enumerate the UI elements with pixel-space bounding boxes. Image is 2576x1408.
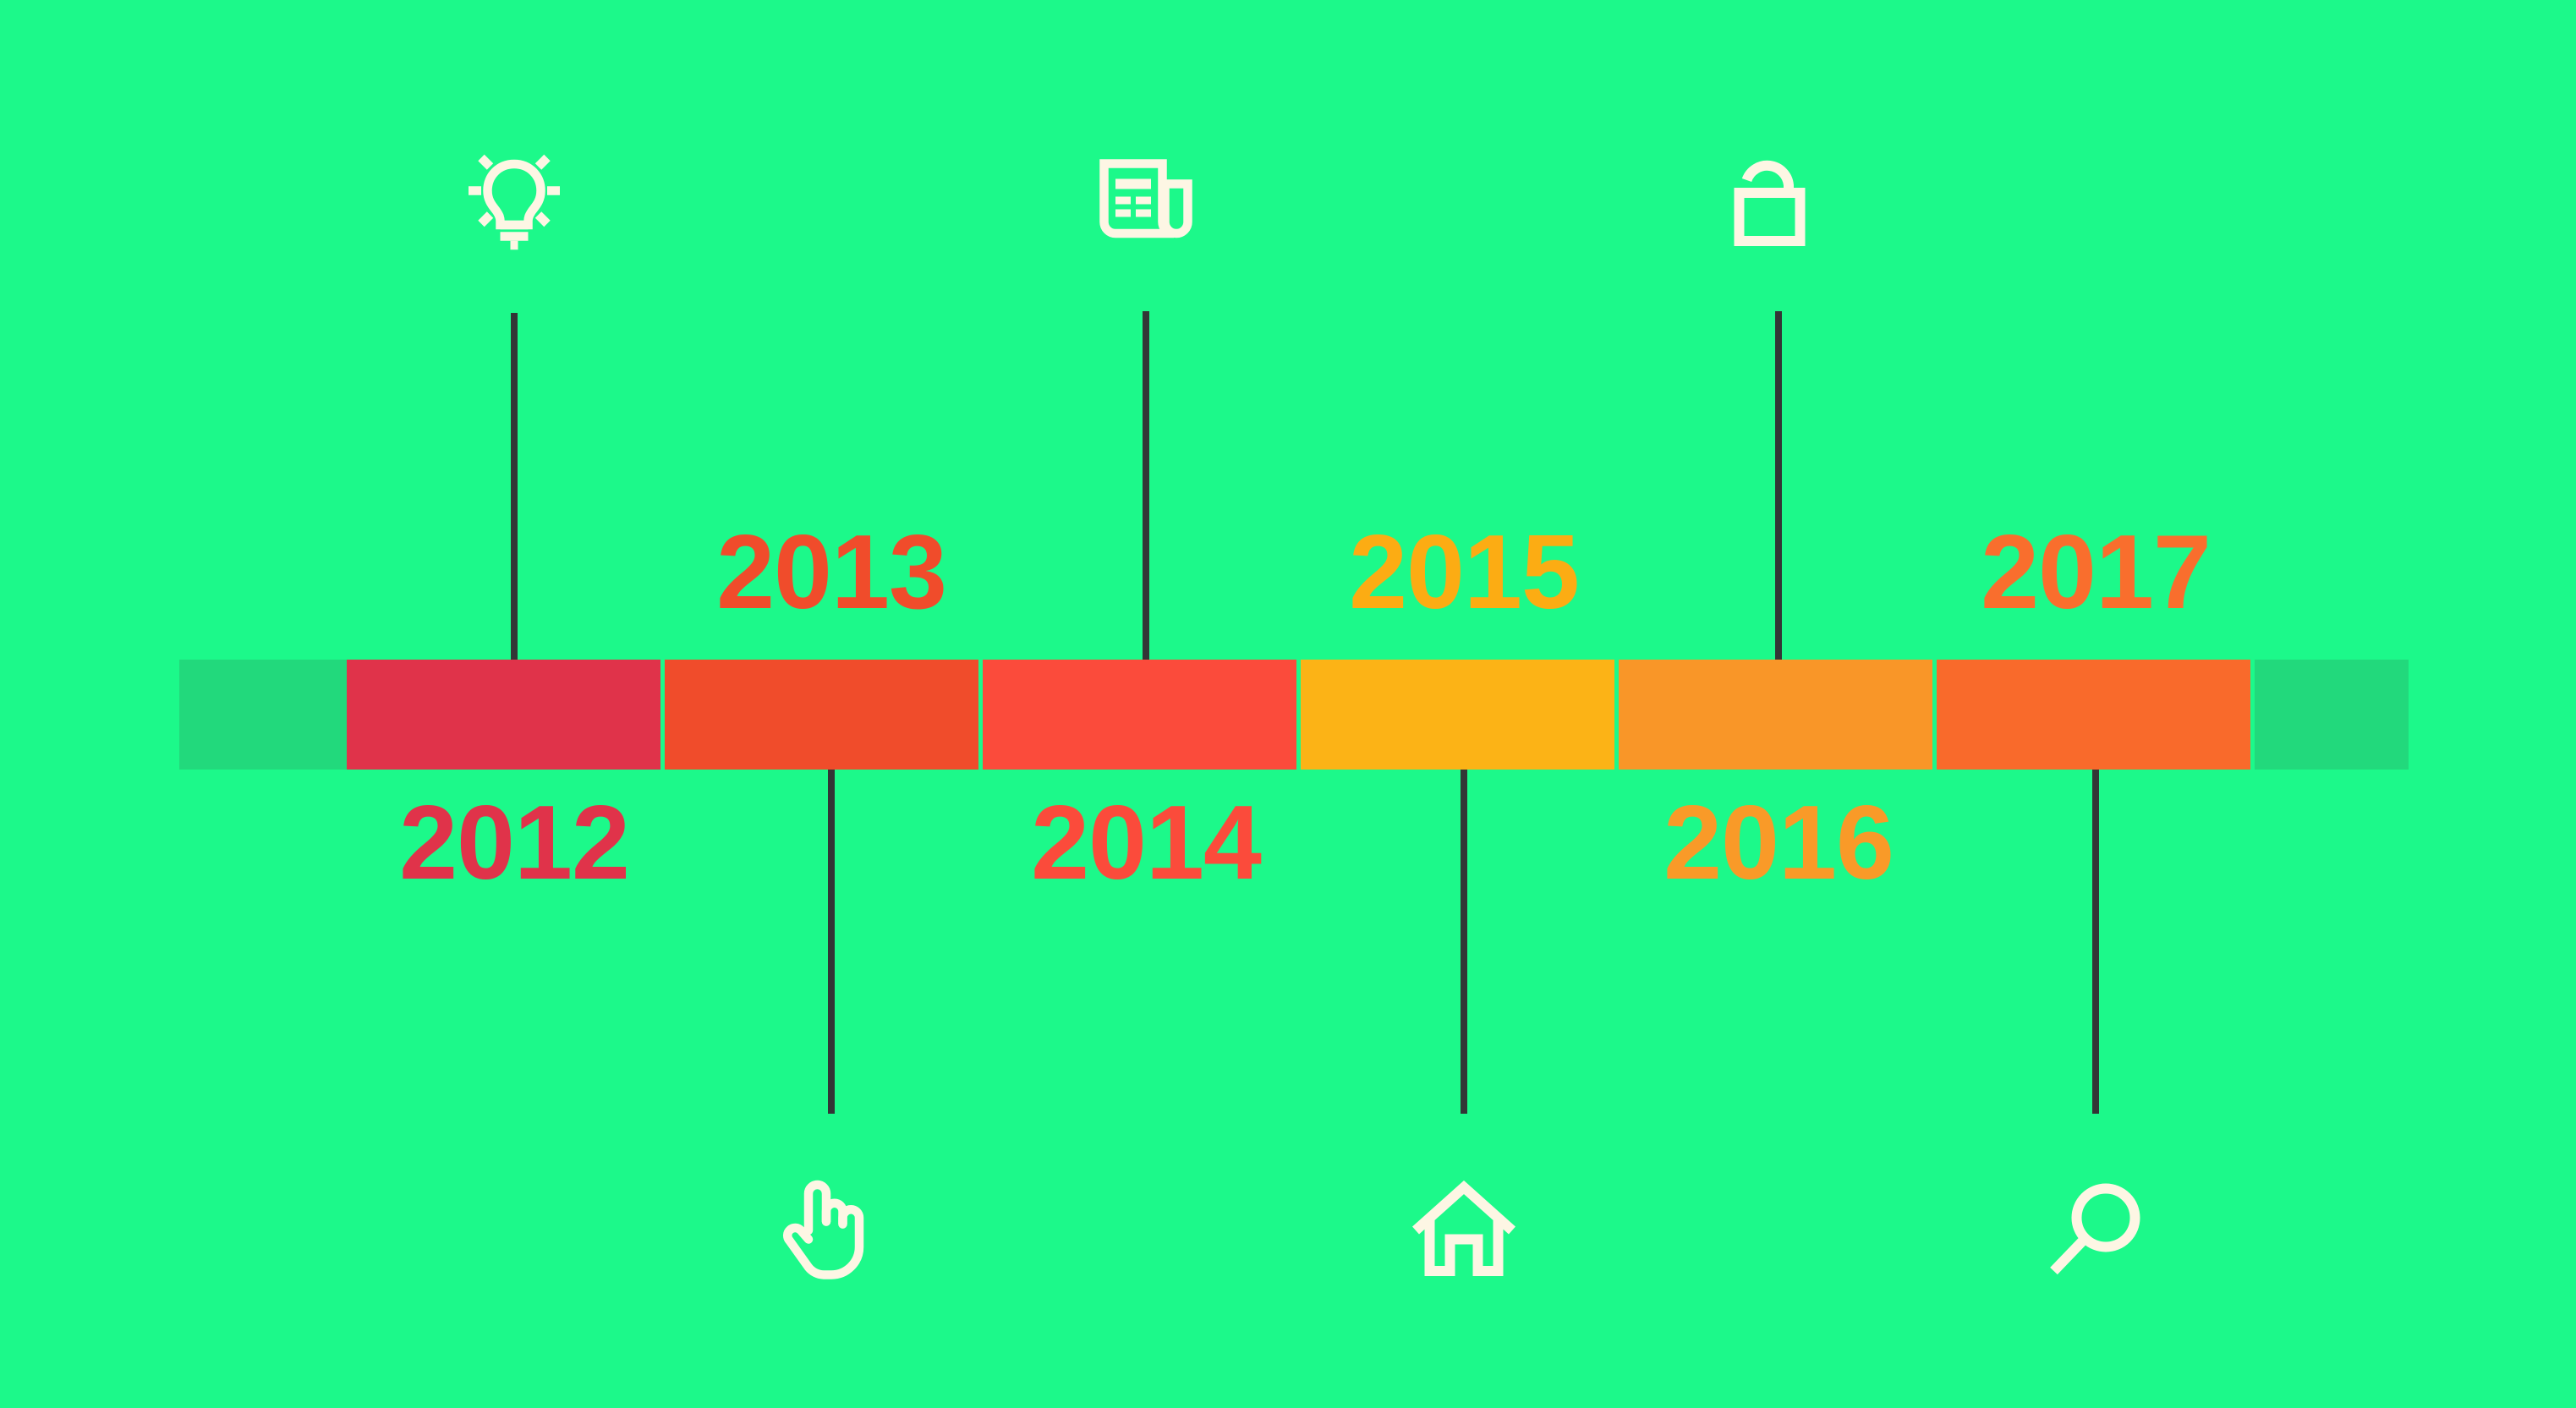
timeline-bar: [179, 660, 2392, 770]
icon-bubble-2015[interactable]: [1341, 1108, 1587, 1353]
pointing-hand-icon: [768, 1167, 895, 1294]
connector-stem-2012: [511, 313, 518, 715]
bar-segment-2013[interactable]: [665, 660, 978, 770]
bar-segment-2012[interactable]: [347, 660, 660, 770]
connector-stem-2014: [1143, 311, 1149, 715]
bar-segment-2016[interactable]: [1619, 660, 1932, 770]
connector-stem-2015: [1461, 715, 1467, 1114]
house-icon: [1400, 1167, 1527, 1294]
connector-stem-2013: [828, 715, 835, 1114]
year-label-2013: 2013: [716, 520, 946, 625]
magnifying-glass-icon: [2032, 1167, 2159, 1294]
year-label-2014: 2014: [1031, 791, 1261, 896]
bar-segment-2015[interactable]: [1301, 660, 1614, 770]
newspaper-icon: [1082, 129, 1209, 256]
bar-right-cap: [2255, 660, 2409, 770]
year-label-2016: 2016: [1663, 791, 1894, 896]
year-label-2017: 2017: [1981, 520, 2211, 625]
connector-stem-2016: [1775, 311, 1782, 715]
icon-bubble-2016[interactable]: [1656, 70, 1901, 315]
icon-bubble-2014[interactable]: [1023, 70, 1269, 315]
icon-bubble-2017[interactable]: [1973, 1108, 2218, 1353]
connector-stem-2017: [2092, 715, 2099, 1114]
year-label-2012: 2012: [399, 791, 629, 896]
timeline-infographic: 2012 2013 2014 2015 2016 2017: [0, 0, 2576, 1408]
lightbulb-icon: [451, 131, 578, 258]
open-padlock-icon: [1715, 129, 1842, 256]
icon-bubble-2012[interactable]: [392, 72, 637, 317]
icon-bubble-2013[interactable]: [709, 1108, 954, 1353]
bar-left-cap: [179, 660, 347, 770]
bar-segment-2014[interactable]: [983, 660, 1296, 770]
year-label-2015: 2015: [1349, 520, 1579, 625]
bar-segment-2017[interactable]: [1937, 660, 2250, 770]
